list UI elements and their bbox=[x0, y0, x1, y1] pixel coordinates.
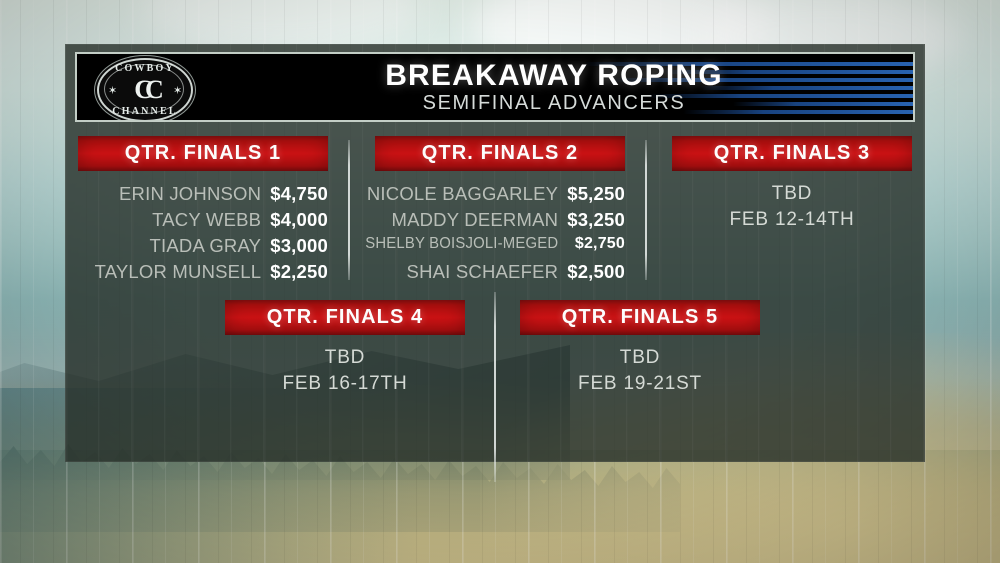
column-divider bbox=[348, 140, 350, 280]
logo-word-top: COWBOY bbox=[99, 63, 191, 74]
result-rows: ERIN JOHNSON $4,750 TACY WEBB $4,000 TIA… bbox=[78, 183, 328, 287]
title-banner: COWBOY CC ✶ ✶ CHANNEL BREAKAWAY ROPING S… bbox=[75, 52, 915, 122]
competitor-name: MADDY DEERMAN bbox=[391, 209, 558, 231]
table-row[interactable]: ERIN JOHNSON $4,750 bbox=[78, 183, 328, 209]
group-badge-label: QTR. FINALS 4 bbox=[267, 306, 424, 329]
competitor-name: ERIN JOHNSON bbox=[119, 183, 261, 205]
group-badge-label: QTR. FINALS 3 bbox=[714, 142, 871, 165]
date-range-text: FEB 16-17TH bbox=[225, 373, 465, 399]
cowboy-channel-logo: COWBOY CC ✶ ✶ CHANNEL bbox=[89, 56, 197, 120]
group-qtr-finals-2[interactable]: QTR. FINALS 2 NICOLE BAGGARLEY $5,250 MA… bbox=[375, 136, 625, 287]
group-badge: QTR. FINALS 1 bbox=[78, 136, 328, 171]
date-range-text: FEB 12-14TH bbox=[672, 209, 912, 235]
table-row[interactable]: TAYLOR MUNSELL $2,250 bbox=[78, 261, 328, 287]
page-subtitle: SEMIFINAL ADVANCERS bbox=[205, 92, 903, 115]
column-divider bbox=[645, 140, 647, 280]
results-panel: COWBOY CC ✶ ✶ CHANNEL BREAKAWAY ROPING S… bbox=[65, 44, 925, 462]
pending-info: TBD FEB 19-21ST bbox=[520, 347, 760, 399]
competitor-amount: $2,250 bbox=[270, 261, 328, 283]
group-badge: QTR. FINALS 5 bbox=[520, 300, 760, 335]
group-qtr-finals-5[interactable]: QTR. FINALS 5 TBD FEB 19-21ST bbox=[520, 300, 760, 399]
competitor-amount: $3,000 bbox=[270, 235, 328, 257]
group-badge-label: QTR. FINALS 5 bbox=[562, 306, 719, 329]
logo-word-bottom: CHANNEL bbox=[99, 106, 191, 117]
table-row[interactable]: SHAI SCHAEFER $2,500 bbox=[375, 261, 625, 287]
group-qtr-finals-1[interactable]: QTR. FINALS 1 ERIN JOHNSON $4,750 TACY W… bbox=[78, 136, 328, 287]
group-badge: QTR. FINALS 3 bbox=[672, 136, 912, 171]
table-row[interactable]: SHELBY BOISJOLI-MEGED $2,750 bbox=[375, 235, 625, 261]
competitor-amount: $4,750 bbox=[270, 183, 328, 205]
competitor-name: SHAI SCHAEFER bbox=[407, 261, 559, 283]
competitor-amount: $2,750 bbox=[575, 235, 625, 253]
table-row[interactable]: MADDY DEERMAN $3,250 bbox=[375, 209, 625, 235]
competitor-name: NICOLE BAGGARLEY bbox=[367, 183, 558, 205]
group-qtr-finals-4[interactable]: QTR. FINALS 4 TBD FEB 16-17TH bbox=[225, 300, 465, 399]
status-text: TBD bbox=[520, 347, 760, 373]
table-row[interactable]: TACY WEBB $4,000 bbox=[78, 209, 328, 235]
group-badge-label: QTR. FINALS 1 bbox=[125, 142, 282, 165]
column-divider bbox=[494, 292, 496, 482]
date-range-text: FEB 19-21ST bbox=[520, 373, 760, 399]
page-title: BREAKAWAY ROPING bbox=[205, 59, 903, 93]
competitor-name: TIADA GRAY bbox=[150, 235, 262, 257]
group-badge: QTR. FINALS 2 bbox=[375, 136, 625, 171]
star-icon: ✶ bbox=[173, 87, 182, 96]
competitor-name: TAYLOR MUNSELL bbox=[95, 261, 262, 283]
competitor-amount: $5,250 bbox=[567, 183, 625, 205]
competitor-name: TACY WEBB bbox=[152, 209, 261, 231]
result-rows: NICOLE BAGGARLEY $5,250 MADDY DEERMAN $3… bbox=[375, 183, 625, 287]
table-row[interactable]: TIADA GRAY $3,000 bbox=[78, 235, 328, 261]
status-text: TBD bbox=[225, 347, 465, 373]
pending-info: TBD FEB 16-17TH bbox=[225, 347, 465, 399]
pending-info: TBD FEB 12-14TH bbox=[672, 183, 912, 235]
table-row[interactable]: NICOLE BAGGARLEY $5,250 bbox=[375, 183, 625, 209]
status-text: TBD bbox=[672, 183, 912, 209]
logo-oval-frame: COWBOY CC ✶ ✶ CHANNEL bbox=[97, 58, 193, 122]
star-icon: ✶ bbox=[108, 87, 117, 96]
group-badge-label: QTR. FINALS 2 bbox=[422, 142, 579, 165]
group-qtr-finals-3[interactable]: QTR. FINALS 3 TBD FEB 12-14TH bbox=[672, 136, 912, 235]
broadcast-graphic-screen: COWBOY CC ✶ ✶ CHANNEL BREAKAWAY ROPING S… bbox=[0, 0, 1000, 563]
competitor-amount: $2,500 bbox=[567, 261, 625, 283]
competitor-amount: $3,250 bbox=[567, 209, 625, 231]
competitor-name: SHELBY BOISJOLI-MEGED bbox=[366, 235, 559, 253]
competitor-amount: $4,000 bbox=[270, 209, 328, 231]
group-badge: QTR. FINALS 4 bbox=[225, 300, 465, 335]
